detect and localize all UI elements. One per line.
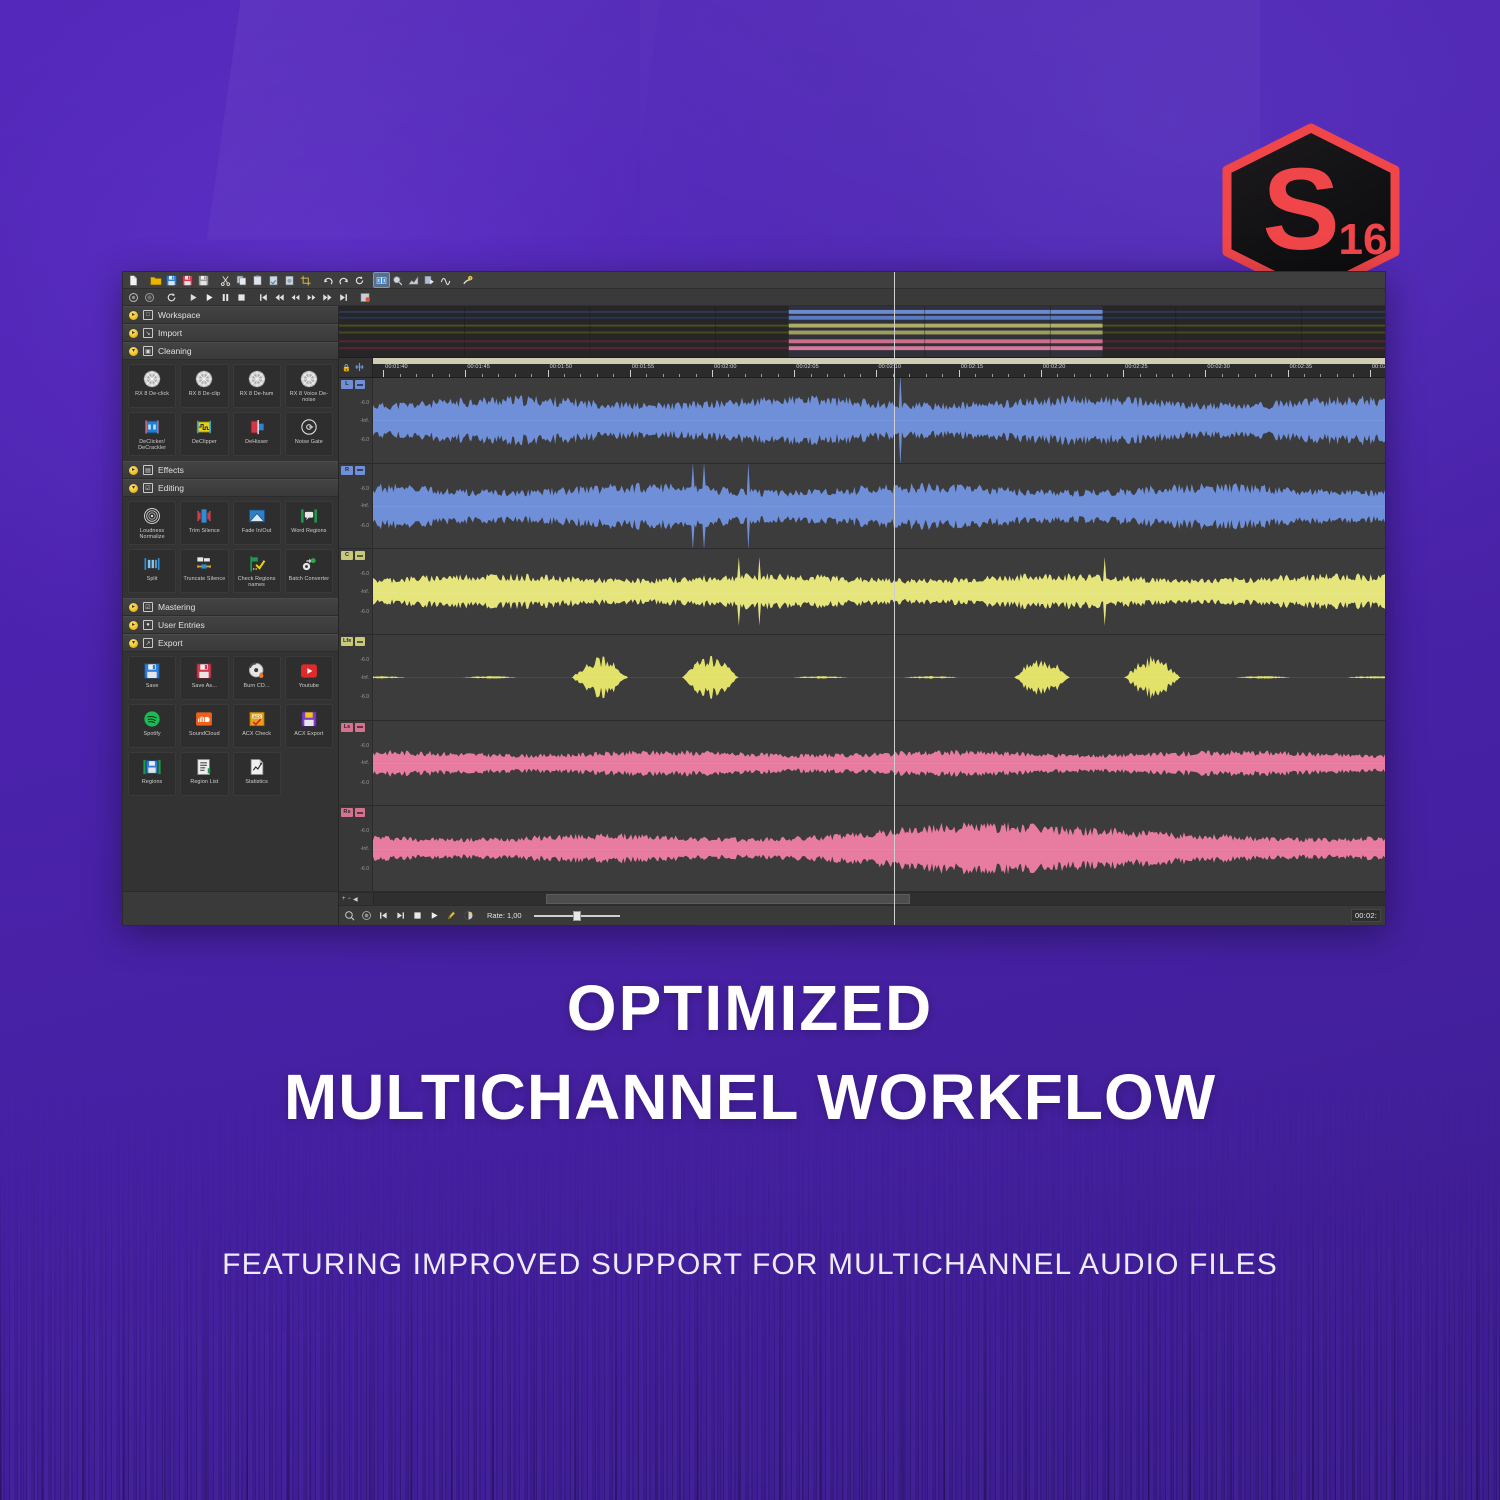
ruler-tick-minor — [1304, 374, 1305, 377]
mute-button[interactable] — [355, 380, 365, 389]
multichannel-view-icon[interactable] — [374, 273, 389, 287]
paste-special-icon[interactable] — [266, 273, 281, 287]
ruler-tick-minor — [416, 374, 417, 377]
channel-header-Lfe: Lfe — [341, 637, 365, 646]
ruler-tick-minor — [696, 374, 697, 377]
waveform-C[interactable] — [373, 549, 1385, 634]
ruler-tick-major — [548, 370, 549, 377]
tool-loudness-normalize[interactable]: Loudness Normalize — [128, 501, 176, 545]
tool-label: Word Regions — [286, 528, 332, 534]
batch-icon — [299, 554, 319, 574]
ruler-tick-label: 00:02:40 — [1370, 364, 1385, 370]
tool-noise-gate[interactable]: Noise Gate — [285, 412, 333, 456]
channel-tracks: L -6.0 -Inf. -6.0 — [339, 378, 1385, 892]
ruler-tick-major — [794, 370, 795, 377]
svg-text:?: ? — [469, 276, 471, 280]
floppy-green-icon — [142, 757, 162, 777]
new-file-icon[interactable] — [126, 273, 141, 287]
ruler-tick-major — [1205, 370, 1206, 377]
tool-fade-in-out[interactable]: Fade In/Out — [233, 501, 281, 545]
channel-badge[interactable]: R — [341, 466, 353, 475]
ruler-tick-major — [1123, 370, 1124, 377]
truncate-icon — [194, 554, 214, 574]
save-as-icon[interactable] — [196, 273, 211, 287]
disc-burn-icon — [247, 661, 267, 681]
tool-statistics[interactable]: Statistics — [233, 752, 281, 796]
rewind-icon[interactable] — [288, 290, 303, 304]
channel-badge[interactable]: Ls — [341, 723, 353, 732]
tool-label: DeHisser — [234, 439, 280, 445]
pencil-tool-icon[interactable] — [445, 909, 458, 922]
tool-word-regions[interactable]: Word Regions — [285, 501, 333, 545]
ruler-tick-minor — [926, 374, 927, 377]
record-icon[interactable] — [142, 290, 157, 304]
mute-button[interactable] — [355, 808, 365, 817]
ruler-tick-label: 00:01:50 — [548, 364, 573, 370]
toolbar-separator — [314, 274, 319, 287]
ruler-tick-minor — [893, 374, 894, 377]
ruler-tick-minor — [597, 374, 598, 377]
ruler-tick-label: 00:02:35 — [1288, 364, 1313, 370]
ruler-tick-minor — [1353, 374, 1354, 377]
ruler-tick-minor — [580, 374, 581, 377]
ruler-tick-minor — [564, 374, 565, 377]
ruler-tick-minor — [679, 374, 680, 377]
sidebar-section-label: User Entries — [158, 620, 205, 630]
skip-forward-icon[interactable] — [394, 909, 407, 922]
ruler-tick-major — [712, 370, 713, 377]
scale-label-top: -6.0 — [339, 400, 369, 406]
rate-slider-knob[interactable] — [573, 911, 581, 921]
stop-icon[interactable] — [411, 909, 424, 922]
sidebar-section-effects[interactable]: ▸ ▤ Effects — [123, 461, 338, 479]
tool-label: Trim Silence — [181, 528, 227, 534]
spotify-icon — [142, 709, 162, 729]
chevron-right-icon: ▸ — [129, 329, 138, 338]
waveform-Ls[interactable] — [373, 721, 1385, 806]
tool-label: Spotify — [129, 731, 175, 737]
ruler-tick-minor — [1090, 374, 1091, 377]
waveform-Rs[interactable] — [373, 806, 1385, 891]
audio-editor-window: ? — [122, 271, 1386, 926]
play-selection-icon[interactable] — [186, 290, 201, 304]
scale-label-top: -6.0 — [339, 743, 369, 749]
check-regions-icon — [247, 554, 267, 574]
rx-knob-icon — [142, 369, 162, 389]
sidebar-empty-space — [123, 801, 338, 891]
mute-button[interactable] — [355, 551, 365, 560]
chevron-right-icon: ▸ — [129, 466, 138, 475]
sidebar-section-import[interactable]: ▸ ↘ Import — [123, 324, 338, 342]
export-tool-grid: Save Save As... Burn CD... Youtube Spoti… — [123, 652, 338, 801]
ruler-gutter: 🔒 — [339, 358, 373, 377]
track-L: L -6.0 -Inf. -6.0 — [339, 378, 1385, 464]
ruler-tick-label: 00:02:10 — [876, 364, 901, 370]
sidebar-section-cleaning[interactable]: ▾ ▣ Cleaning — [123, 342, 338, 360]
channel-gutter-Lfe: Lfe -6.0 -Inf. -6.0 — [339, 635, 373, 720]
duplicate-icon[interactable] — [282, 273, 297, 287]
overview-strip[interactable] — [339, 306, 1385, 358]
editing-tool-grid: Loudness Normalize Trim Silence Fade In/… — [123, 497, 338, 598]
rx-knob-icon — [299, 369, 319, 389]
window-icon: □ — [143, 310, 153, 320]
tool-check-regions-names[interactable]: Check Regions names — [233, 549, 281, 593]
spectrum-icon[interactable] — [406, 273, 421, 287]
scroll-left-icon[interactable]: ◀ — [353, 896, 358, 903]
tool-label: Check Regions names — [234, 576, 280, 588]
tool-trim-silence[interactable]: Trim Silence — [180, 501, 228, 545]
sidebar-section-workspace[interactable]: ▸ □ Workspace — [123, 306, 338, 324]
scale-label-top: -6.0 — [339, 571, 369, 577]
mute-button[interactable] — [355, 466, 365, 475]
toolbar-separator — [454, 274, 459, 287]
floppy-blue-icon — [142, 661, 162, 681]
zoom-out-full-icon[interactable] — [343, 909, 356, 922]
loudness-icon — [142, 506, 162, 526]
scale-label-mid: -Inf. — [339, 760, 369, 766]
waveform-L[interactable] — [373, 378, 1385, 463]
ruler-tick-minor — [1189, 374, 1190, 377]
horizontal-scrollbar-track[interactable] — [373, 893, 1385, 905]
zoom-selection-icon[interactable] — [390, 273, 405, 287]
effects-icon: ▤ — [143, 465, 153, 475]
tool-acx-check[interactable]: ACX ACX Check — [233, 704, 281, 748]
floppy-red-icon — [194, 661, 214, 681]
sidebar-section-label: Editing — [158, 483, 184, 493]
background-streak-texture-coarse — [0, 1200, 1500, 1500]
ruler-tick-minor — [482, 374, 483, 377]
ruler-tick-minor — [432, 374, 433, 377]
ruler-tick-major — [630, 370, 631, 377]
channel-header-C: C — [341, 551, 365, 560]
tool-label: Split — [129, 576, 175, 582]
ruler-tick-major — [1041, 370, 1042, 377]
svg-text:S: S — [1262, 144, 1339, 274]
sidebar-section-label: Import — [158, 328, 182, 338]
export-icon: ↗ — [143, 638, 153, 648]
tool-label: DeClicker/ DeCrackler — [129, 439, 175, 451]
channel-header-L: L — [341, 380, 365, 389]
horizontal-scrollbar-thumb[interactable] — [546, 894, 910, 904]
ruler-tick-minor — [515, 374, 516, 377]
statistics-icon — [247, 757, 267, 777]
tool-label: Truncate Silence — [181, 576, 227, 582]
scale-label-top: -6.0 — [339, 486, 369, 492]
sidebar-section-user-entries[interactable]: ▸ ● User Entries — [123, 616, 338, 634]
refresh-icon[interactable] — [352, 273, 367, 287]
redo-icon[interactable] — [336, 273, 351, 287]
save-all-icon[interactable] — [180, 273, 195, 287]
loop-icon[interactable] — [164, 290, 179, 304]
tool-label: Loudness Normalize — [129, 528, 175, 540]
undo-icon[interactable] — [320, 273, 335, 287]
tool-rx8-declick[interactable]: RX 8 De-click — [128, 364, 176, 408]
mute-button[interactable] — [355, 637, 365, 646]
svg-text:ACX: ACX — [253, 715, 261, 719]
zoom-in-icon[interactable]: + — [342, 896, 346, 902]
paste-icon[interactable] — [250, 273, 265, 287]
tool-acx-export[interactable]: ACX Export — [285, 704, 333, 748]
chevron-down-icon: ▾ — [129, 639, 138, 648]
crop-icon[interactable] — [298, 273, 313, 287]
link-channels-icon[interactable] — [354, 362, 365, 374]
toolbar-separator — [158, 291, 163, 304]
ruler-tick-minor — [1156, 374, 1157, 377]
tool-region-list[interactable]: Region List — [180, 752, 228, 796]
tool-label: Fade In/Out — [234, 528, 280, 534]
tool-label: Save As... — [181, 683, 227, 689]
editing-icon: ☑ — [143, 483, 153, 493]
sidebar-section-editing[interactable]: ▾ ☑ Editing — [123, 479, 338, 497]
zoom-out-icon[interactable]: − — [348, 896, 352, 902]
play-icon[interactable] — [202, 290, 217, 304]
scale-label-mid: -Inf. — [339, 589, 369, 595]
list-icon — [194, 757, 214, 777]
import-icon: ↘ — [143, 328, 153, 338]
ruler-tick-label: 00:02:25 — [1123, 364, 1148, 370]
ruler-tick-minor — [1222, 374, 1223, 377]
toolbar-separator — [212, 274, 217, 287]
tool-label: ACX Check — [234, 731, 280, 737]
tool-split[interactable]: Split — [128, 549, 176, 593]
horizontal-scrollbar-row: + − ◀ — [339, 892, 1385, 905]
ruler-tick-minor — [975, 374, 976, 377]
rx-knob-icon — [247, 369, 267, 389]
ruler-tick-minor — [909, 374, 910, 377]
loop-region-icon[interactable] — [358, 290, 373, 304]
help-icon[interactable]: ? — [460, 273, 475, 287]
clean-icon: ▣ — [143, 346, 153, 356]
tool-spotify[interactable]: Spotify — [128, 704, 176, 748]
tool-label: DeClipper — [181, 439, 227, 445]
tool-declicker-decrackler[interactable]: DeClicker/ DeCrackler — [128, 412, 176, 456]
rate-label: Rate: 1,00 — [487, 911, 522, 920]
sidebar-section-label: Cleaning — [158, 346, 192, 356]
ruler-tick-major — [876, 370, 877, 377]
background-shape-right — [640, 0, 1260, 260]
scale-label-bottom: -6.0 — [339, 694, 369, 700]
ruler-tick-label: 00:01:55 — [630, 364, 655, 370]
overview-waveform — [339, 306, 1385, 357]
fast-forward-icon[interactable] — [304, 290, 319, 304]
tool-regions[interactable]: Regions — [128, 752, 176, 796]
ruler-tick-minor — [531, 374, 532, 377]
zoom-buttons: + − ◀ — [339, 893, 373, 905]
acx-check-icon: ACX — [247, 709, 267, 729]
scale-label-mid: -Inf. — [339, 675, 369, 681]
pause-icon[interactable] — [218, 290, 233, 304]
ruler-tick-label: 00:02:20 — [1041, 364, 1066, 370]
waveform-Lfe[interactable] — [373, 635, 1385, 720]
skip-back-icon[interactable] — [377, 909, 390, 922]
dehisser-icon — [247, 417, 267, 437]
toolbar-separator — [180, 291, 185, 304]
channel-gutter-C: C -6.0 -Inf. -6.0 — [339, 549, 373, 634]
tool-batch-converter[interactable]: Batch Converter — [285, 549, 333, 593]
channel-badge[interactable]: L — [341, 380, 353, 389]
scale-label-mid: -Inf. — [339, 846, 369, 852]
chevron-down-icon: ▾ — [129, 484, 138, 493]
track-Rs: Rs -6.0 -Inf. -6.0 — [339, 806, 1385, 892]
ruler-tick-minor — [613, 374, 614, 377]
ruler-tick-major — [1370, 370, 1371, 377]
copy-icon[interactable] — [234, 273, 249, 287]
next-marker-icon[interactable] — [320, 290, 335, 304]
scale-label-top: -6.0 — [339, 657, 369, 663]
ruler-tick-minor — [942, 374, 943, 377]
ruler-tick-minor — [1107, 374, 1108, 377]
chevron-right-icon: ▸ — [129, 311, 138, 320]
record-arm-icon[interactable] — [126, 290, 141, 304]
tool-label: Noise Gate — [286, 439, 332, 445]
ruler-tick-minor — [1140, 374, 1141, 377]
track-R: R -6.0 -Inf. -6.0 — [339, 464, 1385, 550]
scale-label-mid: -Inf. — [339, 503, 369, 509]
timeline-ruler[interactable]: 00:01:4000:01:4500:01:5000:01:5500:02:00… — [373, 358, 1385, 377]
sidebar-section-label: Workspace — [158, 310, 200, 320]
ruler-tick-minor — [1320, 374, 1321, 377]
tool-label: RX 8 De-clip — [181, 391, 227, 397]
channel-badge[interactable]: C — [341, 551, 353, 560]
ruler-tick-label: 00:01:45 — [465, 364, 490, 370]
ruler-tick-minor — [728, 374, 729, 377]
channel-header-Rs: Rs — [341, 808, 365, 817]
track-Lfe: Lfe -6.0 -Inf. -6.0 — [339, 635, 1385, 721]
ruler-tick-major — [465, 370, 466, 377]
ruler-tick-minor — [811, 374, 812, 377]
timeline-ruler-row: 🔒 00:01:4000:01:4500:01:5000:01:5500:02:… — [339, 358, 1385, 378]
background-shape-left — [207, 0, 673, 240]
ruler-tick-minor — [1008, 374, 1009, 377]
mute-button[interactable] — [355, 723, 365, 732]
previous-marker-icon[interactable] — [272, 290, 287, 304]
tool-dehisser[interactable]: DeHisser — [233, 412, 281, 456]
ruler-tick-label: 00:02:05 — [794, 364, 819, 370]
tool-truncate-silence[interactable]: Truncate Silence — [180, 549, 228, 593]
cleaning-tool-grid: RX 8 De-click RX 8 De-clip RX 8 De-hum R… — [123, 360, 338, 461]
ruler-tick-minor — [844, 374, 845, 377]
ruler-tick-minor — [745, 374, 746, 377]
open-folder-icon[interactable] — [148, 273, 163, 287]
tool-label: RX 8 Voice De-noise — [286, 391, 332, 403]
ruler-tick-minor — [1238, 374, 1239, 377]
toolbar-separator — [352, 291, 357, 304]
scale-label-bottom: -6.0 — [339, 866, 369, 872]
main-toolbar: ? — [123, 272, 1385, 289]
ruler-tick-minor — [449, 374, 450, 377]
fade-icon — [247, 506, 267, 526]
tool-declipper[interactable]: DeClipper — [180, 412, 228, 456]
save-icon[interactable] — [164, 273, 179, 287]
zero-line — [373, 420, 1385, 421]
sidebar-footer-panel — [123, 891, 338, 925]
ruler-tick-minor — [400, 374, 401, 377]
tool-label: RX 8 De-hum — [234, 391, 280, 397]
word-regions-icon — [299, 506, 319, 526]
phase-icon[interactable] — [438, 273, 453, 287]
acx-export-icon — [299, 709, 319, 729]
gate-icon — [299, 417, 319, 437]
ruler-tick-minor — [1074, 374, 1075, 377]
zero-line — [373, 506, 1385, 507]
scale-label-bottom: -6.0 — [339, 609, 369, 615]
status-bar: Rate: 1,00 00:02: — [339, 905, 1385, 925]
go-to-end-icon[interactable] — [336, 290, 351, 304]
scale-label-top: -6.0 — [339, 828, 369, 834]
channel-gutter-R: R -6.0 -Inf. -6.0 — [339, 464, 373, 549]
lock-icon[interactable]: 🔒 — [342, 364, 351, 372]
ruler-tick-minor — [663, 374, 664, 377]
select-region-icon[interactable] — [422, 273, 437, 287]
rate-slider[interactable] — [534, 909, 620, 922]
youtube-icon — [299, 661, 319, 681]
channel-gutter-Rs: Rs -6.0 -Inf. -6.0 — [339, 806, 373, 891]
tool-rx8-voice-denoise[interactable]: RX 8 Voice De-noise — [285, 364, 333, 408]
sidebar-section-mastering[interactable]: ▸ ☑ Mastering — [123, 598, 338, 616]
transport-toolbar — [123, 289, 1385, 306]
headline-line-2: MULTICHANNEL WORKFLOW — [0, 1064, 1500, 1131]
ruler-tick-minor — [860, 374, 861, 377]
tool-label: Batch Converter — [286, 576, 332, 582]
time-display: 00:02: — [1351, 909, 1381, 922]
ruler-tick-major — [383, 370, 384, 377]
zero-line — [373, 763, 1385, 764]
tool-label: Region List — [181, 779, 227, 785]
go-to-start-icon[interactable] — [256, 290, 271, 304]
tool-label: Burn CD... — [234, 683, 280, 689]
app-body: ▸ □ Workspace ▸ ↘ Import ▾ ▣ Cleaning RX… — [123, 306, 1385, 925]
scale-label-bottom: -6.0 — [339, 437, 369, 443]
track-C: C -6.0 -Inf. -6.0 — [339, 549, 1385, 635]
moon-tool-icon[interactable] — [462, 909, 475, 922]
cut-icon[interactable] — [218, 273, 233, 287]
tool-rx8-dehum[interactable]: RX 8 De-hum — [233, 364, 281, 408]
ruler-tick-minor — [778, 374, 779, 377]
chevron-right-icon: ▸ — [129, 603, 138, 612]
scale-label-bottom: -6.0 — [339, 780, 369, 786]
stop-icon[interactable] — [234, 290, 249, 304]
tool-label: ACX Export — [286, 731, 332, 737]
ruler-tick-minor — [761, 374, 762, 377]
tool-burn-cd[interactable]: Burn CD... — [233, 656, 281, 700]
declicker-icon — [142, 417, 162, 437]
waveform-R[interactable] — [373, 464, 1385, 549]
ruler-tick-minor — [1337, 374, 1338, 377]
ruler-tick-minor — [992, 374, 993, 377]
track-Ls: Ls -6.0 -Inf. -6.0 — [339, 721, 1385, 807]
channel-gutter-L: L -6.0 -Inf. -6.0 — [339, 378, 373, 463]
trim-icon — [194, 506, 214, 526]
scale-label-bottom: -6.0 — [339, 523, 369, 529]
channel-badge[interactable]: Lfe — [341, 637, 353, 646]
record-status-icon[interactable] — [360, 909, 373, 922]
sidebar-section-export[interactable]: ▾ ↗ Export — [123, 634, 338, 652]
channel-badge[interactable]: Rs — [341, 808, 353, 817]
ruler-tick-minor — [646, 374, 647, 377]
chevron-down-icon: ▾ — [129, 347, 138, 356]
tool-youtube[interactable]: Youtube — [285, 656, 333, 700]
tool-soundcloud[interactable]: SoundCloud — [180, 704, 228, 748]
tool-save[interactable]: Save — [128, 656, 176, 700]
mastering-icon: ☑ — [143, 602, 153, 612]
tool-rx8-declip[interactable]: RX 8 De-clip — [180, 364, 228, 408]
tool-label: SoundCloud — [181, 731, 227, 737]
scale-label-mid: -Inf. — [339, 418, 369, 424]
play-icon[interactable] — [428, 909, 441, 922]
tool-label: Statistics — [234, 779, 280, 785]
tool-save-as[interactable]: Save As... — [180, 656, 228, 700]
sidebar-section-label: Export — [158, 638, 183, 648]
